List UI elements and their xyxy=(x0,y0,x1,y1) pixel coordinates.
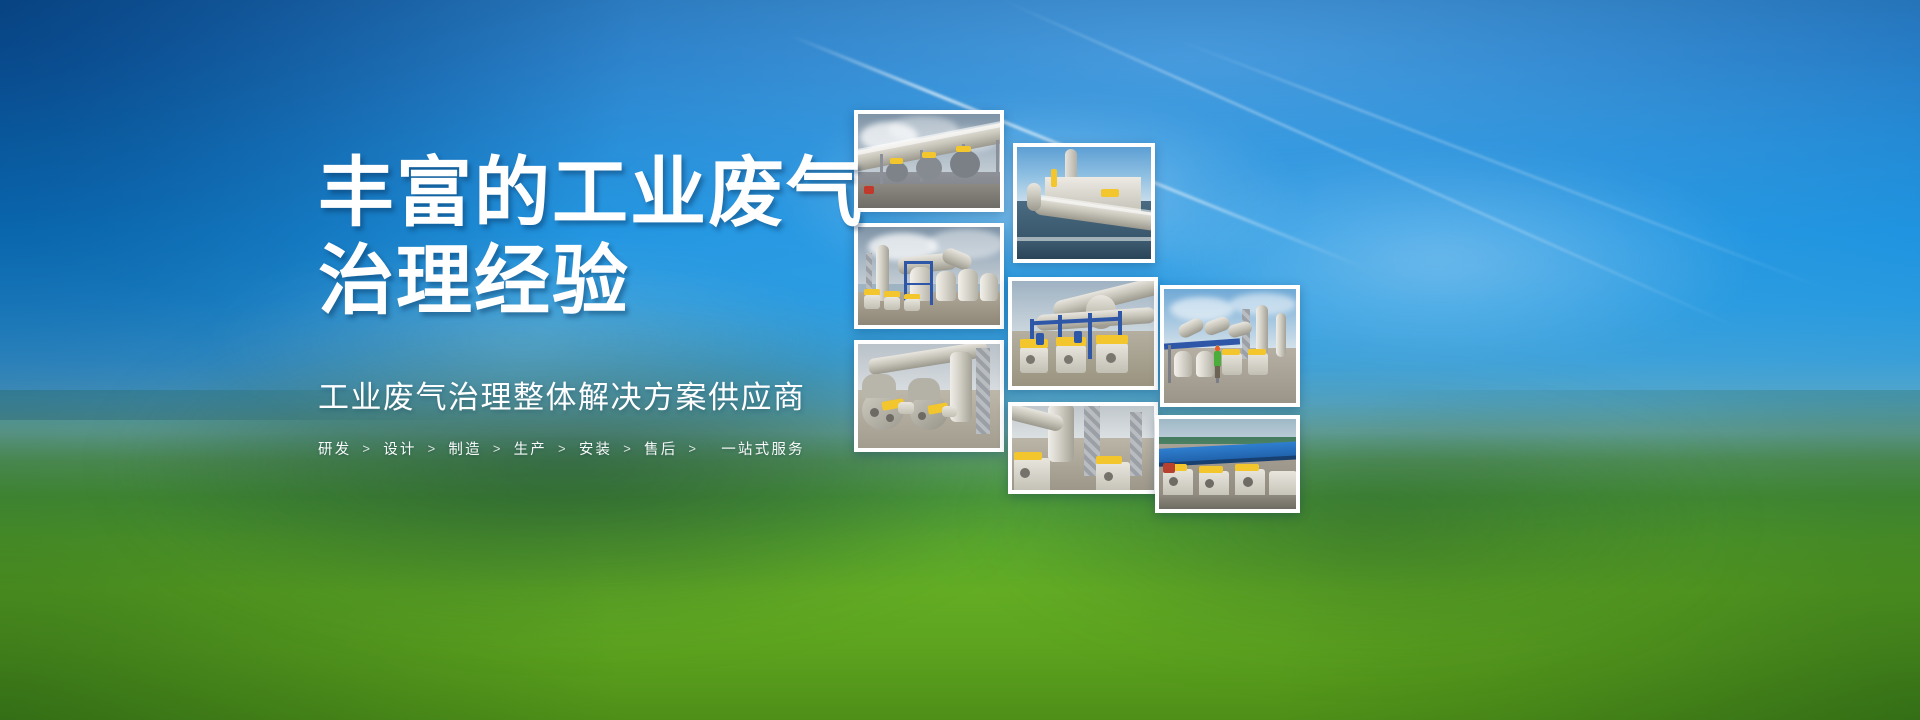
breadcrumb-separator-icon: > xyxy=(688,441,698,456)
process-step-research: 研发 xyxy=(318,438,351,459)
headline-line-1: 丰富的工业废气 xyxy=(318,150,878,238)
breadcrumb-separator-icon: > xyxy=(428,441,438,456)
process-step-manufacture: 制造 xyxy=(448,438,481,459)
hero-banner: 丰富的工业废气 治理经验 工业废气治理整体解决方案供应商 研发 > 设计 > 制… xyxy=(0,0,1920,720)
collage-photo-large-fan-set xyxy=(1008,402,1158,494)
project-photo-collage xyxy=(0,0,1920,720)
headline-line-2: 治理经验 xyxy=(318,238,878,326)
collage-photo-finished-goods-yard xyxy=(1155,415,1300,513)
process-step-one-stop-service: 一站式服务 xyxy=(721,438,805,459)
hero-subtitle: 工业废气治理整体解决方案供应商 xyxy=(318,378,878,418)
breadcrumb-separator-icon: > xyxy=(623,441,633,456)
breadcrumb-separator-icon: > xyxy=(362,441,372,456)
breadcrumb-separator-icon: > xyxy=(493,441,503,456)
hero-copy-block: 丰富的工业废气 治理经验 工业废气治理整体解决方案供应商 研发 > 设计 > 制… xyxy=(318,150,878,459)
process-step-design: 设计 xyxy=(383,438,416,459)
page-title: 丰富的工业废气 治理经验 xyxy=(318,150,878,326)
collage-photo-workshop-site xyxy=(1160,285,1300,407)
process-step-installation: 安装 xyxy=(579,438,612,459)
breadcrumb-separator-icon: > xyxy=(558,441,568,456)
collage-photo-spray-tower-line xyxy=(1008,277,1158,390)
collage-photo-rto-unit xyxy=(1013,143,1155,263)
process-step-aftersales: 售后 xyxy=(644,438,677,459)
process-step-production: 生产 xyxy=(514,438,547,459)
process-breadcrumb: 研发 > 设计 > 制造 > 生产 > 安装 > 售后 > 一站式服务 xyxy=(318,438,878,459)
